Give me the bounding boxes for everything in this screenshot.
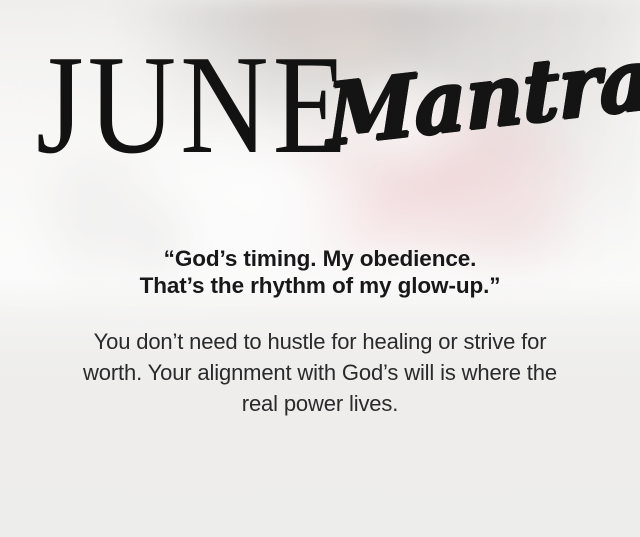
body-line-2: worth. Your alignment with God’s will is… <box>44 357 596 388</box>
body-copy-block: You don’t need to hustle for healing or … <box>44 326 596 419</box>
quote-graphic-canvas: JUNE Mantra “God’s timing. My obedience.… <box>0 0 640 537</box>
headline-script-word: Mantra <box>326 36 640 158</box>
quote-line-1: “God’s timing. My obedience. <box>0 245 640 272</box>
quote-line-2: That’s the rhythm of my glow-up.” <box>0 272 640 299</box>
body-line-3: real power lives. <box>44 388 596 419</box>
headline-block: JUNE Mantra <box>0 0 640 200</box>
quote-block: “God’s timing. My obedience. That’s the … <box>0 245 640 299</box>
body-line-1: You don’t need to hustle for healing or … <box>44 326 596 357</box>
headline-month-word: JUNE <box>36 34 352 176</box>
